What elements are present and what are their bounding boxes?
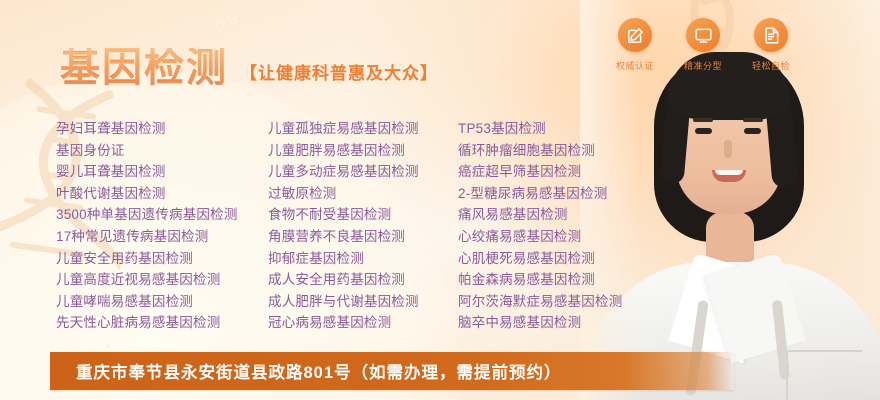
list-item[interactable]: 成人肥胖与代谢基因检测	[268, 291, 458, 313]
list-item[interactable]: 儿童高度近视易感基因检测	[56, 269, 268, 291]
list-item[interactable]: 17种常见遗传病基因检测	[56, 226, 268, 248]
address-text: 重庆市奉节县永安街道县政路801号（如需办理，需提前预约）	[50, 359, 562, 383]
address-banner: 重庆市奉节县永安街道县政路801号（如需办理，需提前预约）	[50, 352, 734, 390]
doctor-eyebrow-right	[743, 118, 763, 122]
test-items-lists: 孕妇耳聋基因检测 基因身份证 婴儿耳聋基因检测 叶酸代谢基因检测 3500种单基…	[56, 118, 698, 334]
list-item[interactable]: 儿童孤独症易感基因检测	[268, 118, 458, 140]
feature-item-authority[interactable]: 权威认证	[612, 18, 658, 72]
doctor-nose	[724, 140, 732, 158]
page-subtitle: 【让健康科普惠及大众】	[240, 59, 438, 84]
list-item[interactable]: 抑郁症基因检测	[268, 248, 458, 270]
list-item[interactable]: 儿童肥胖易感基因检测	[268, 140, 458, 162]
list-item[interactable]: 食物不耐受基因检测	[268, 204, 458, 226]
list-item[interactable]: 儿童哮喘易感基因检测	[56, 291, 268, 313]
list-item[interactable]: 孕妇耳聋基因检测	[56, 118, 268, 140]
genetic-testing-poster: 基因检测 【让健康科普惠及大众】 权威认证 精准分型	[0, 0, 880, 400]
list-item[interactable]: 先天性心脏病易感基因检测	[56, 312, 268, 334]
list-item[interactable]: 癌症超早筛基因检测	[458, 161, 698, 183]
list-item[interactable]: 儿童安全用药基因检测	[56, 248, 268, 270]
feature-label-authority: 权威认证	[616, 59, 654, 72]
watermark-text: DS	[0, 115, 25, 143]
list-item[interactable]: 角膜营养不良基因检测	[268, 226, 458, 248]
feature-badges: 权威认证 精准分型 轻松自检	[612, 18, 794, 72]
watermark-text: DS	[212, 9, 244, 37]
list-item[interactable]: 婴儿耳聋基因检测	[56, 161, 268, 183]
list-item[interactable]: 冠心病易感基因检测	[268, 312, 458, 334]
page-title: 基因检测	[60, 48, 228, 88]
list-item[interactable]: 心绞痛易感基因检测	[458, 226, 698, 248]
list-item[interactable]: TP53基因检测	[458, 118, 698, 140]
list-item[interactable]: 帕金森病易感基因检测	[458, 269, 698, 291]
coat-pocket	[786, 350, 862, 400]
list-item[interactable]: 脑卒中易感基因检测	[458, 312, 698, 334]
list-item[interactable]: 2-型糖尿病易感基因检测	[458, 183, 698, 205]
feature-label-selfcheck: 轻松自检	[752, 59, 790, 72]
test-list-column-1: 孕妇耳聋基因检测 基因身份证 婴儿耳聋基因检测 叶酸代谢基因检测 3500种单基…	[56, 118, 268, 334]
list-item[interactable]: 3500种单基因遗传病基因检测	[56, 204, 268, 226]
feature-label-typing: 精准分型	[684, 59, 722, 72]
poster-heading: 基因检测 【让健康科普惠及大众】	[60, 48, 438, 88]
feature-item-selfcheck[interactable]: 轻松自检	[748, 18, 794, 72]
list-item[interactable]: 过敏原检测	[268, 183, 458, 205]
feature-item-typing[interactable]: 精准分型	[680, 18, 726, 72]
doctor-eye-right	[744, 128, 761, 134]
list-item[interactable]: 循环肿瘤细胞基因检测	[458, 140, 698, 162]
test-list-column-2: 儿童孤独症易感基因检测 儿童肥胖易感基因检测 儿童多动症易感基因检测 过敏原检测…	[268, 118, 458, 334]
doctor-teeth	[715, 170, 743, 175]
report-document-icon	[754, 18, 788, 52]
edit-square-icon	[618, 18, 652, 52]
list-item[interactable]: 阿尔茨海默症易感基因检测	[458, 291, 698, 313]
list-item[interactable]: 基因身份证	[56, 140, 268, 162]
list-item[interactable]: 心肌梗死易感基因检测	[458, 248, 698, 270]
test-list-column-3: TP53基因检测 循环肿瘤细胞基因检测 癌症超早筛基因检测 2-型糖尿病易感基因…	[458, 118, 698, 334]
list-item[interactable]: 儿童多动症易感基因检测	[268, 161, 458, 183]
list-item[interactable]: 痛风易感基因检测	[458, 204, 698, 226]
list-item[interactable]: 叶酸代谢基因检测	[56, 183, 268, 205]
list-item[interactable]: 成人安全用药基因检测	[268, 269, 458, 291]
monitor-icon	[686, 18, 720, 52]
